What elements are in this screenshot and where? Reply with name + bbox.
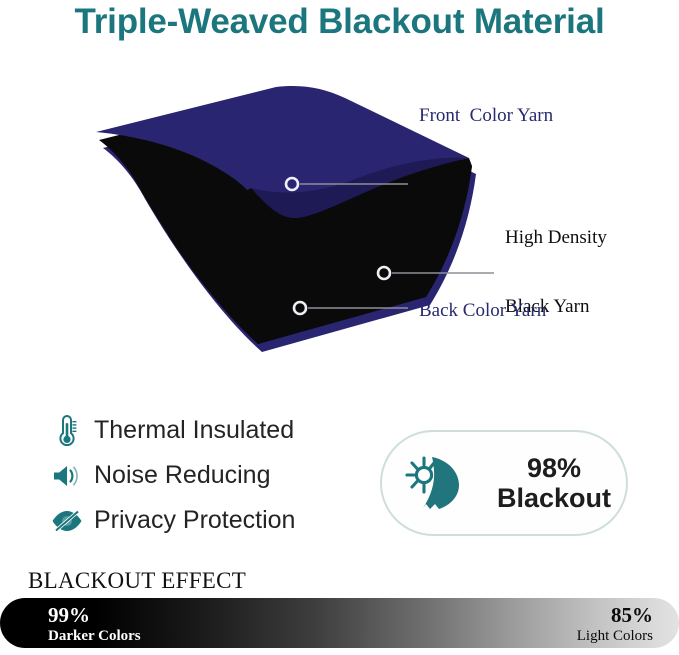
thermometer-icon [46, 414, 88, 448]
blackout-effect-bar: 99% Darker Colors 85% Light Colors [0, 598, 679, 648]
blackout-badge-text: 98% Blackout [488, 453, 626, 513]
feature-thermal-insulated: Thermal Insulated [46, 408, 366, 453]
callout-front-color-yarn: Front Color Yarn [419, 104, 553, 127]
effect-right-percent: 85% [577, 605, 653, 626]
feature-label-privacy: Privacy Protection [94, 506, 295, 535]
blackout-effect-heading: BLACKOUT EFFECT [28, 568, 246, 594]
page-title: Triple-Weaved Blackout Material [0, 2, 679, 42]
sun-blocked-icon [392, 452, 488, 514]
feature-label-noise: Noise Reducing [94, 461, 271, 490]
effect-left-percent: 99% [48, 605, 141, 626]
feature-noise-reducing: Noise Reducing [46, 453, 366, 498]
feature-list: Thermal Insulated Noise Reducing Privacy… [46, 408, 366, 543]
blackout-percent: 98% [527, 453, 581, 483]
feature-label-thermal: Thermal Insulated [94, 416, 294, 445]
eye-slash-icon [46, 508, 88, 534]
effect-left-label: Darker Colors [48, 627, 141, 645]
callout-black-line1: High Density [505, 226, 607, 249]
speaker-sound-icon [46, 462, 88, 490]
callout-back-color-yarn: Back Color Yarn [419, 299, 546, 322]
feature-privacy-protection: Privacy Protection [46, 498, 366, 543]
blackout-label: Blackout [497, 483, 611, 513]
effect-right-label: Light Colors [577, 627, 653, 645]
blackout-badge: 98% Blackout [380, 430, 628, 536]
effect-right-group: 85% Light Colors [577, 605, 653, 645]
effect-left-group: 99% Darker Colors [48, 605, 141, 645]
